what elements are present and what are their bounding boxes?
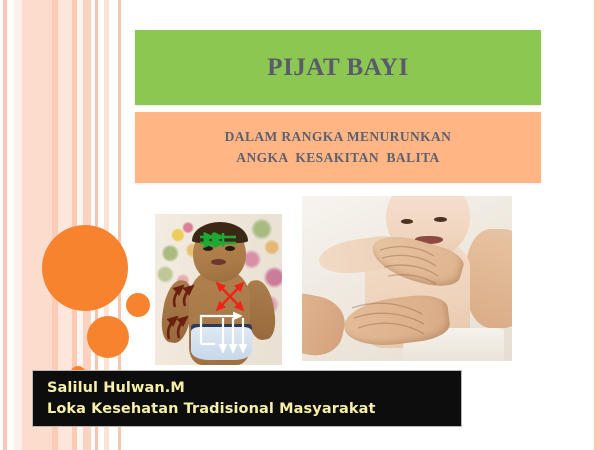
page-title: PIJAT BAYI — [267, 54, 408, 82]
dark-red-arm-arrows — [168, 286, 193, 339]
medium-orange-circle — [87, 316, 129, 358]
title-banner: PIJAT BAYI — [135, 30, 541, 105]
baby-massage-hands-photo — [302, 196, 512, 361]
green-forehead-strokes — [200, 233, 236, 247]
author-organization: Loka Kesehatan Tradisional Masyarakat — [47, 399, 461, 420]
massage-stroke-annotations — [155, 214, 282, 365]
author-name: Salilul Hulwan.M — [47, 378, 461, 399]
author-block: Salilul Hulwan.M Loka Kesehatan Tradisio… — [32, 370, 462, 427]
hand-finger-lines — [302, 196, 512, 361]
white-abdomen-arrows — [201, 316, 243, 352]
presentation-slide: PIJAT BAYI DALAM RANGKA MENURUNKAN ANGKA… — [0, 0, 600, 450]
subtitle-line-2: ANGKA KESAKITAN BALITA — [236, 148, 439, 169]
baby-massage-diagram-photo — [155, 214, 282, 365]
decorative-stripe-1 — [14, 0, 22, 450]
subtitle-line-1: DALAM RANGKA MENURUNKAN — [225, 127, 452, 148]
small-orange-circle — [126, 293, 150, 317]
large-orange-circle — [42, 225, 128, 311]
decorative-stripe-11 — [594, 0, 600, 450]
red-chest-cross — [217, 283, 243, 310]
subtitle-banner: DALAM RANGKA MENURUNKAN ANGKA KESAKITAN … — [135, 112, 541, 183]
decorative-stripe-0 — [3, 0, 7, 450]
